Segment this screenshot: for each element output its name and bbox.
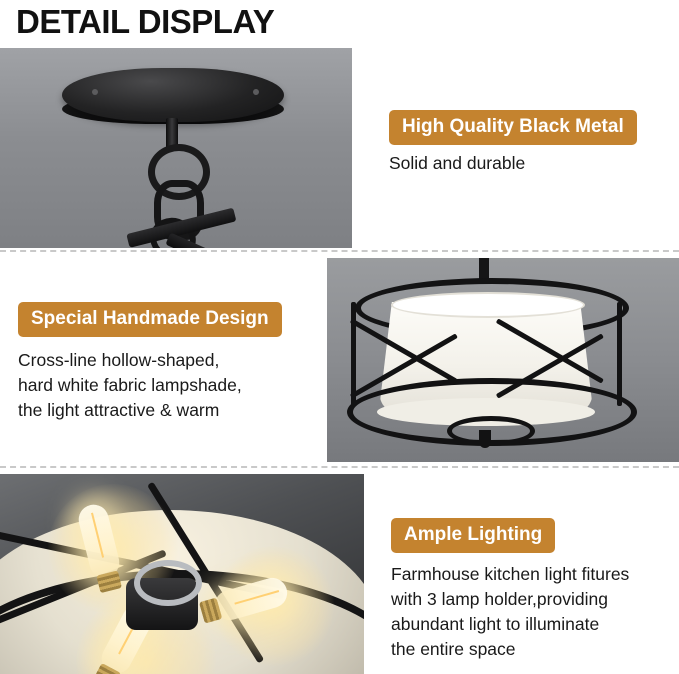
detail-display-page: DETAIL DISPLAY High Quality Black Metal … [0, 0, 679, 674]
bulb-filament [91, 513, 104, 558]
bulb-filament [234, 590, 279, 605]
page-header: DETAIL DISPLAY [16, 2, 663, 46]
feature-1-description: Solid and durable [389, 151, 669, 176]
cage-finial [479, 430, 491, 448]
canopy-disc [62, 68, 284, 122]
feature-2-description: Cross-line hollow-shaped, hard white fab… [18, 348, 338, 423]
cage-vertical-right [617, 302, 622, 406]
feature-3-text-column: Ample Lighting Farmhouse kitchen light f… [359, 474, 679, 674]
canopy-screw-right [253, 89, 259, 95]
feature-section-1: High Quality Black Metal Solid and durab… [0, 48, 679, 248]
feature-section-2: Special Handmade Design Cross-line hollo… [0, 258, 679, 462]
drum-shade-photo [327, 258, 679, 462]
section-divider-2 [0, 466, 679, 468]
section-divider-1 [0, 250, 679, 252]
feature-2-badge: Special Handmade Design [18, 302, 282, 337]
feature-2-text-column: Special Handmade Design Cross-line hollo… [0, 258, 352, 462]
feature-1-badge: High Quality Black Metal [389, 110, 637, 145]
ceiling-canopy-photo [0, 48, 352, 248]
feature-1-text-column: High Quality Black Metal Solid and durab… [359, 48, 679, 248]
bulbs-closeup-photo [0, 474, 364, 674]
feature-3-badge: Ample Lighting [391, 518, 555, 553]
cage-base-ring [447, 416, 535, 446]
feature-3-description: Farmhouse kitchen light fitures with 3 l… [391, 562, 679, 662]
fabric-shade-top-ring [391, 292, 585, 318]
canopy-screw-left [92, 89, 98, 95]
lamp-holder-ring [134, 560, 202, 606]
feature-section-3: Ample Lighting Farmhouse kitchen light f… [0, 474, 679, 674]
page-title: DETAIL DISPLAY [16, 2, 663, 42]
